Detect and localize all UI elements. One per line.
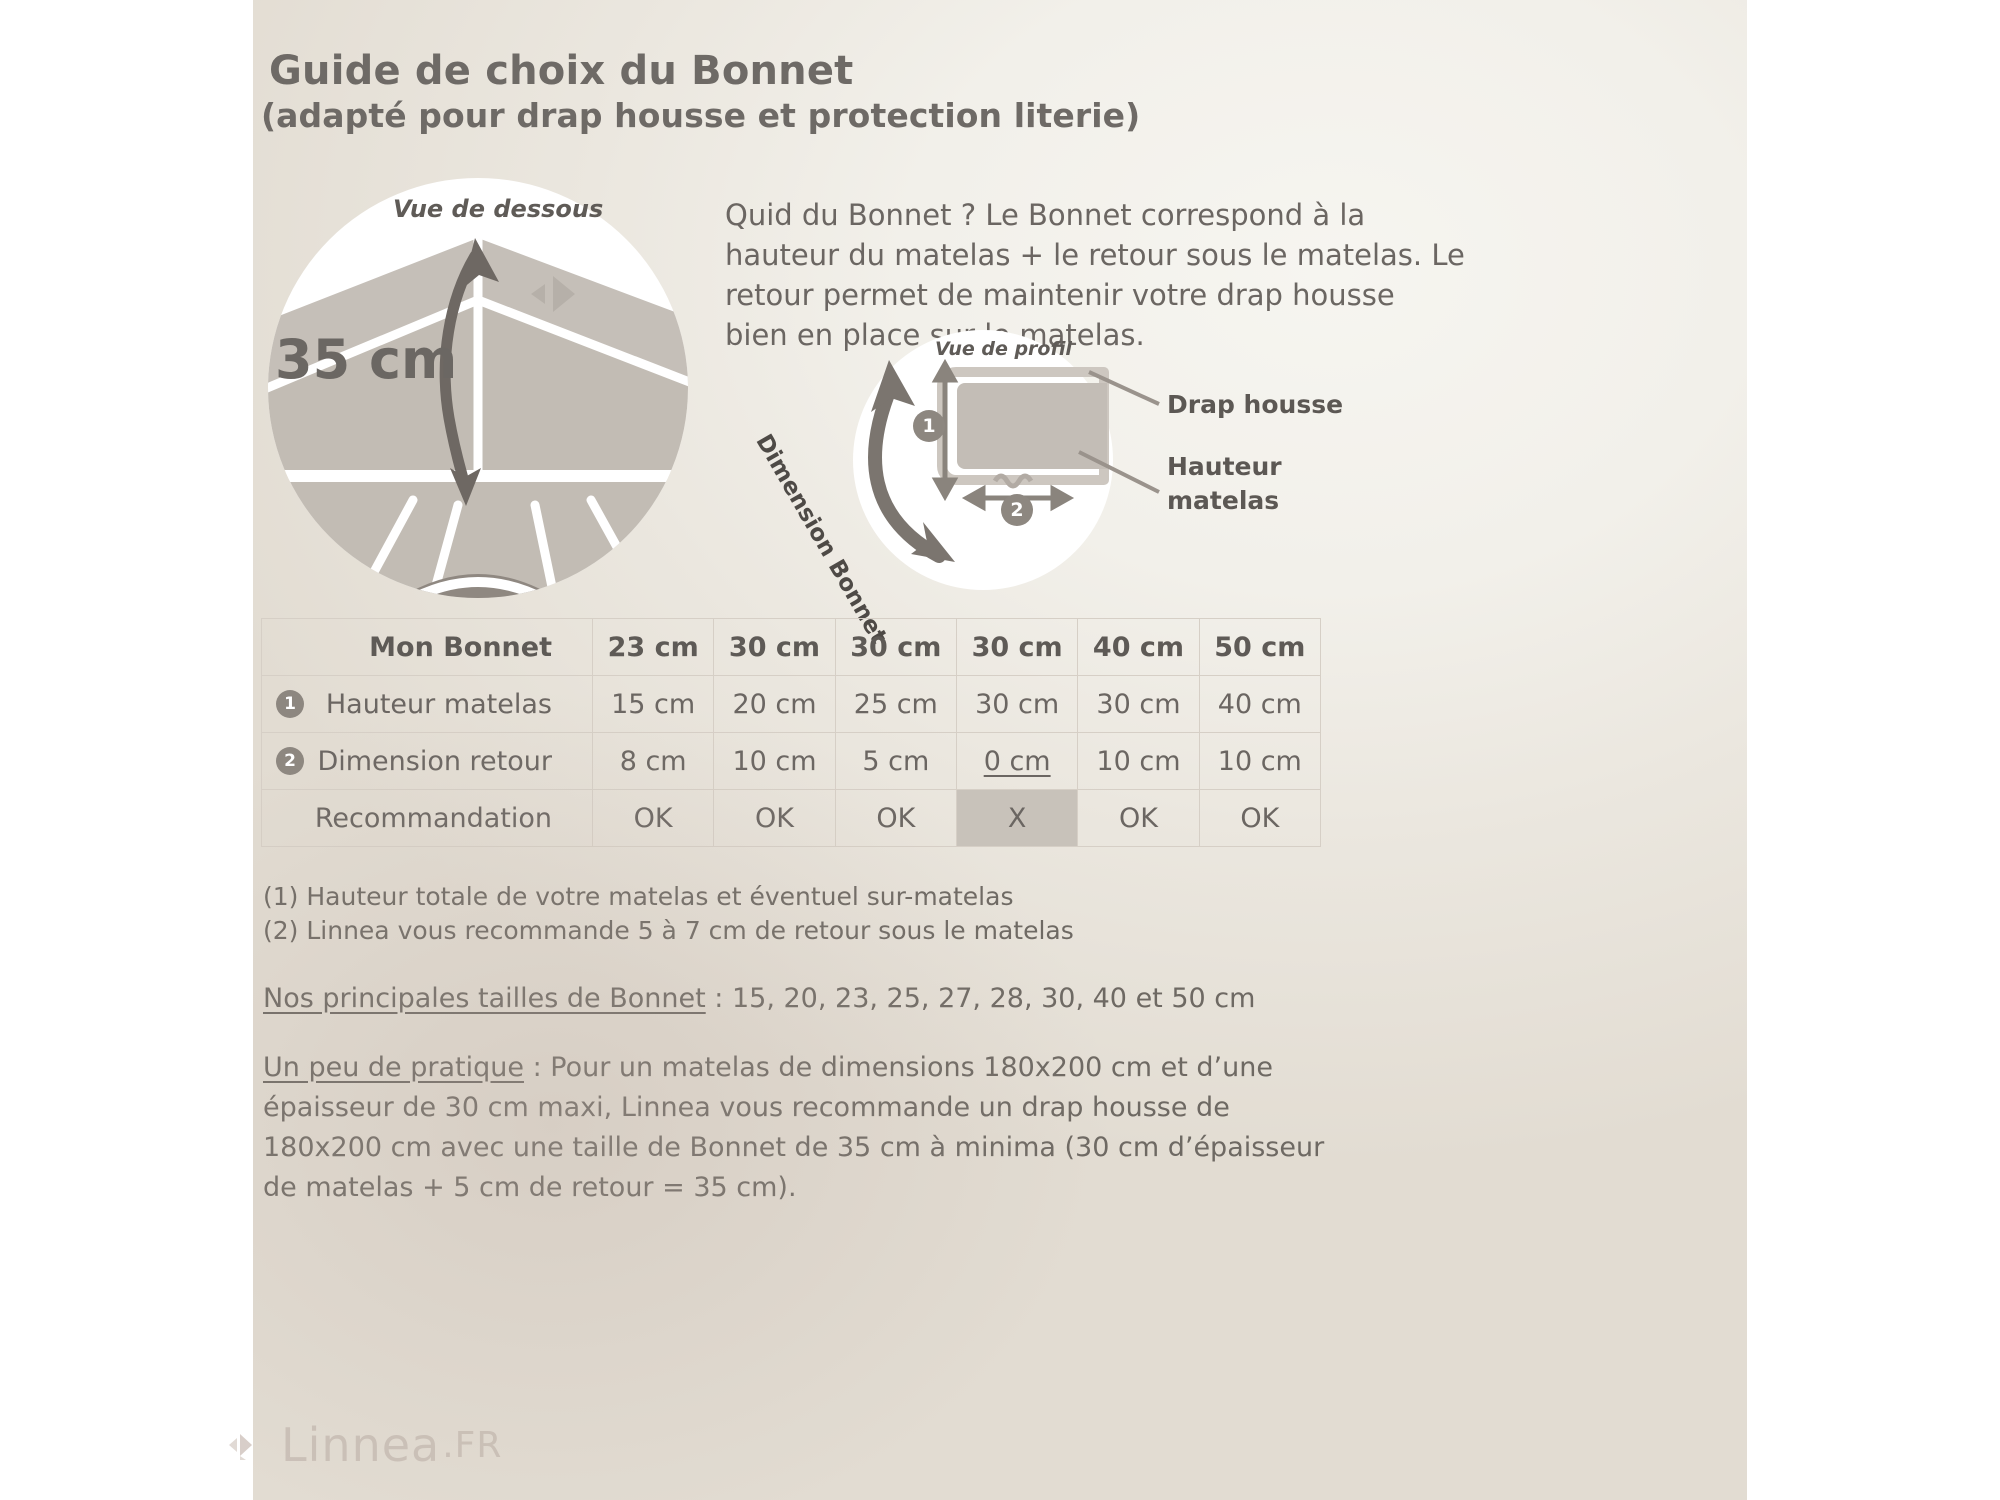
table-cell-reco-5: OK: [1199, 790, 1320, 847]
table-label-hauteur: 1 Hauteur matelas: [262, 676, 593, 733]
note-sizes-label: Nos principales tailles de Bonnet: [263, 983, 706, 1014]
table-cell-height-1: 20 cm: [714, 676, 835, 733]
table-label-reco: Recommandation: [262, 790, 593, 847]
table-cell-retour-1: 10 cm: [714, 733, 835, 790]
table-row-header: Mon Bonnet 23 cm 30 cm 30 cm 30 cm 40 cm…: [262, 619, 1321, 676]
table-cell-height-4: 30 cm: [1078, 676, 1199, 733]
table-cell-retour-2: 5 cm: [835, 733, 956, 790]
diagram-profile-caption: Vue de profil: [935, 338, 1072, 360]
logo-name: Linnea: [281, 1418, 440, 1472]
table-cell-reco-0: OK: [593, 790, 714, 847]
table-cell-reco-1: OK: [714, 790, 835, 847]
bonnet-table: Mon Bonnet 23 cm 30 cm 30 cm 30 cm 40 cm…: [261, 618, 1321, 847]
note-sizes: Nos principales tailles de Bonnet : 15, …: [263, 982, 1255, 1016]
linnea-mark-icon: [223, 1428, 267, 1462]
note-sizes-value: : 15, 20, 23, 25, 27, 28, 30, 40 et 50 c…: [706, 983, 1256, 1014]
table-header-label: Mon Bonnet: [262, 619, 593, 676]
footnote-1: (1) Hauteur totale de votre matelas et é…: [263, 880, 1013, 914]
label-hauteur-line1: Hauteur: [1167, 450, 1282, 484]
badge-2: 2: [1001, 494, 1033, 526]
table-row-hauteur: 1 Hauteur matelas 15 cm 20 cm 25 cm 30 c…: [262, 676, 1321, 733]
label-hauteur-line2: matelas: [1167, 484, 1282, 518]
brand-logo: Linnea .FR: [223, 1418, 502, 1472]
table-cell-reco-4: OK: [1078, 790, 1199, 847]
table-cell-reco-2: OK: [835, 790, 956, 847]
table-cell-height-0: 15 cm: [593, 676, 714, 733]
table-cell-bonnet-5: 50 cm: [1199, 619, 1320, 676]
label-drap-housse: Drap housse: [1167, 390, 1343, 419]
table-cell-bonnet-1: 30 cm: [714, 619, 835, 676]
fitted-sheet-shape: [942, 372, 1107, 486]
note-practice-label: Un peu de pratique: [263, 1052, 524, 1083]
table-label-hauteur-text: Hauteur matelas: [326, 689, 552, 720]
table-cell-bonnet-3: 30 cm: [956, 619, 1077, 676]
table-cell-retour-3: 0 cm: [956, 733, 1077, 790]
table-cell-height-3: 30 cm: [956, 676, 1077, 733]
table-label-retour: 2 Dimension retour: [262, 733, 593, 790]
table-cell-height-2: 25 cm: [835, 676, 956, 733]
row-badge-2: 2: [276, 747, 304, 775]
row-badge-1: 1: [276, 690, 304, 718]
table-cell-bonnet-4: 40 cm: [1078, 619, 1199, 676]
table-cell-retour-0: 8 cm: [593, 733, 714, 790]
table-cell-retour-4: 10 cm: [1078, 733, 1199, 790]
screenshot-root: Guide de choix du Bonnet (adapté pour dr…: [0, 0, 2000, 1500]
table-cell-bonnet-0: 23 cm: [593, 619, 714, 676]
logo-tld: .FR: [442, 1425, 502, 1466]
badge-1: 1: [913, 410, 945, 442]
table-cell-height-5: 40 cm: [1199, 676, 1320, 733]
table-row-reco: Recommandation OK OK OK X OK OK: [262, 790, 1321, 847]
note-practice: Un peu de pratique : Pour un matelas de …: [263, 1048, 1353, 1208]
table-cell-retour-5: 10 cm: [1199, 733, 1320, 790]
footnote-2: (2) Linnea vous recommande 5 à 7 cm de r…: [263, 914, 1074, 948]
table-cell-reco-3: X: [956, 790, 1077, 847]
table-row-retour: 2 Dimension retour 8 cm 10 cm 5 cm 0 cm …: [262, 733, 1321, 790]
table-label-retour-text: Dimension retour: [317, 746, 552, 777]
poster-canvas: Guide de choix du Bonnet (adapté pour dr…: [253, 0, 1747, 1500]
label-hauteur-matelas: Hauteur matelas: [1167, 450, 1282, 518]
table-cell-bonnet-2: 30 cm: [835, 619, 956, 676]
